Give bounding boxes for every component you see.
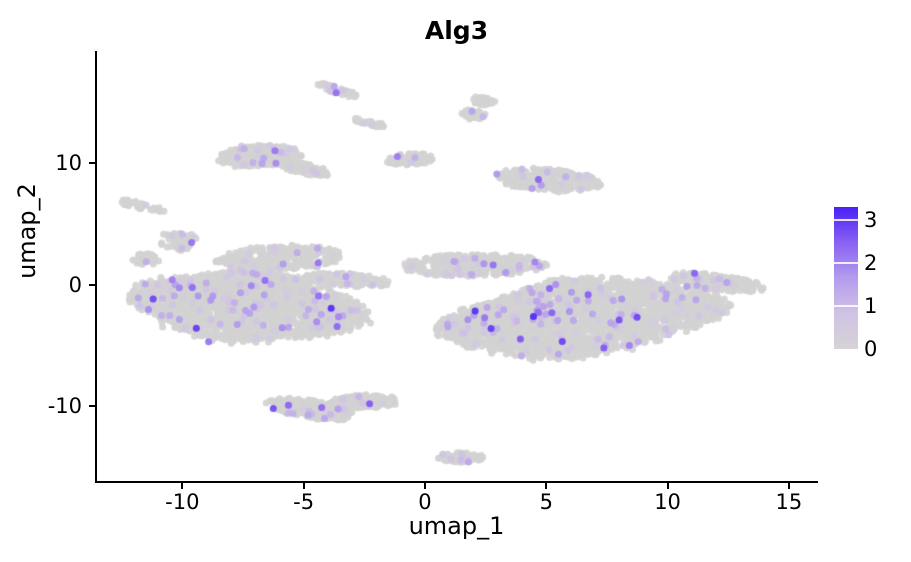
colorbar-tick-label: 1 [864, 294, 877, 318]
x-tick-mark [303, 483, 305, 489]
colorbar-tick-label: 2 [864, 251, 877, 275]
page-title: Alg3 [95, 16, 818, 46]
x-tick-label: 0 [385, 490, 465, 514]
umap-feature-plot: Alg3 -10-5051015 100-10 umap_1 umap_2 01… [0, 0, 911, 562]
x-tick-label: 5 [506, 490, 586, 514]
x-axis-label: umap_1 [95, 512, 818, 540]
colorbar [834, 207, 858, 349]
y-tick-mark [89, 284, 95, 286]
plot-axes [95, 51, 818, 483]
colorbar-tick-label: 0 [864, 337, 877, 361]
x-tick-label: 10 [628, 490, 708, 514]
colorbar-tick-mark [834, 262, 858, 264]
x-tick-mark [181, 483, 183, 489]
y-tick-label: -10 [0, 394, 82, 418]
scatter-points-layer [97, 51, 820, 483]
colorbar-tick-mark [834, 219, 858, 221]
x-tick-mark [545, 483, 547, 489]
x-tick-label: -5 [264, 490, 344, 514]
colorbar-tick-mark [834, 305, 858, 307]
colorbar-tick-label: 3 [864, 208, 877, 232]
colorbar-gradient [834, 207, 858, 349]
x-tick-label: 15 [749, 490, 829, 514]
x-tick-mark [667, 483, 669, 489]
y-tick-mark [89, 162, 95, 164]
x-tick-mark [424, 483, 426, 489]
x-tick-mark [788, 483, 790, 489]
y-axis-label: umap_2 [13, 111, 41, 351]
x-tick-label: -10 [142, 490, 222, 514]
y-tick-mark [89, 405, 95, 407]
